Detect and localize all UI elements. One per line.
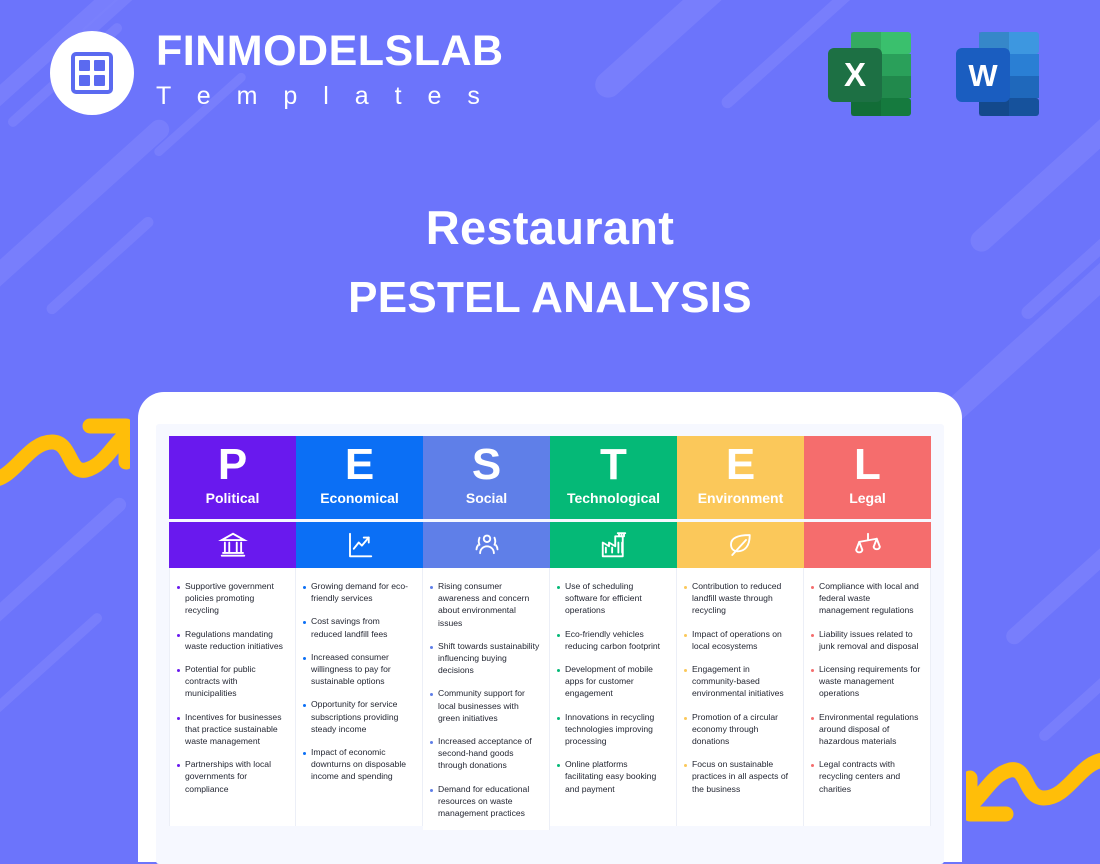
list-item: Opportunity for service subscriptions pr… [303, 698, 413, 735]
list-item: Partnerships with local governments for … [177, 758, 286, 795]
column-icon-cell-technological [550, 522, 677, 568]
bullet-text: Regulations mandating waste reduction in… [185, 628, 286, 652]
bullet-text: Contribution to reduced landfill waste t… [692, 580, 794, 617]
column-icon-cell-legal [804, 522, 931, 568]
list-item: Compliance with local and federal waste … [811, 580, 921, 617]
list-item: Licensing requirements for waste managem… [811, 663, 921, 700]
list-item: Incentives for businesses that practice … [177, 711, 286, 748]
list-item: Impact of economic downturns on disposab… [303, 746, 413, 783]
logo-badge [50, 31, 134, 115]
column-header-social: S Social [423, 436, 550, 519]
bullet-text: Partnerships with local governments for … [185, 758, 286, 795]
word-icon[interactable]: W [948, 24, 1048, 124]
list-item: Legal contracts with recycling centers a… [811, 758, 921, 795]
list-item: Contribution to reduced landfill waste t… [684, 580, 794, 617]
column-body-political: Supportive government policies promoting… [169, 568, 296, 826]
excel-icon[interactable]: X [820, 24, 920, 124]
bullet-text: Potential for public contracts with muni… [185, 663, 286, 700]
excel-letter: X [844, 56, 866, 93]
bullet-list-social: Rising consumer awareness and concern ab… [430, 580, 540, 819]
bullet-text: Rising consumer awareness and concern ab… [438, 580, 540, 629]
tablet-device-frame: P Political Supportive government polici… [138, 392, 962, 862]
brand-logo[interactable]: FINMODELSLAB T e m p l a t e s [50, 30, 504, 116]
list-item: Online platforms facilitating easy booki… [557, 758, 667, 795]
pestel-column-environment[interactable]: E Environment Contribution to reduced la… [677, 436, 804, 830]
list-item: Innovations in recycling technologies im… [557, 711, 667, 748]
pestel-column-technological[interactable]: T Technological Use of scheduling softwa… [550, 436, 677, 830]
column-body-social: Rising consumer awareness and concern ab… [423, 568, 550, 830]
page-subtitle: PESTEL ANALYSIS [0, 273, 1100, 323]
arrow-up-right-icon [0, 398, 130, 490]
column-label: Political [206, 490, 260, 506]
bullet-text: Eco-friendly vehicles reducing carbon fo… [565, 628, 667, 652]
list-item: Supportive government policies promoting… [177, 580, 286, 617]
column-body-economical: Growing demand for eco-friendly services… [296, 568, 423, 826]
list-item: Cost savings from reduced landfill fees [303, 615, 413, 639]
list-item: Development of mobile apps for customer … [557, 663, 667, 700]
column-icon-cell-environment [677, 522, 804, 568]
bullet-text: Impact of economic downturns on disposab… [311, 746, 413, 783]
bullet-text: Innovations in recycling technologies im… [565, 711, 667, 748]
page-title-block: Restaurant PESTEL ANALYSIS [0, 200, 1100, 323]
list-item: Engagement in community-based environmen… [684, 663, 794, 700]
bullet-list-economical: Growing demand for eco-friendly services… [303, 580, 413, 783]
bullet-text: Compliance with local and federal waste … [819, 580, 921, 617]
grid-squares-icon [71, 52, 113, 94]
arrow-down-left-icon [966, 752, 1100, 844]
list-item: Increased acceptance of second-hand good… [430, 735, 540, 772]
leaf-icon [726, 530, 756, 560]
bullet-text: Opportunity for service subscriptions pr… [311, 698, 413, 735]
bullet-text: Engagement in community-based environmen… [692, 663, 794, 700]
bullet-text: Increased consumer willingness to pay fo… [311, 651, 413, 688]
list-item: Potential for public contracts with muni… [177, 663, 286, 700]
bullet-list-legal: Compliance with local and federal waste … [811, 580, 921, 795]
column-letter: T [600, 443, 627, 488]
bullet-text: Increased acceptance of second-hand good… [438, 735, 540, 772]
bullet-text: Licensing requirements for waste managem… [819, 663, 921, 700]
list-item: Environmental regulations around disposa… [811, 711, 921, 748]
column-header-political: P Political [169, 436, 296, 519]
scales-of-justice-icon [853, 530, 883, 560]
list-item: Liability issues related to junk removal… [811, 628, 921, 652]
app-format-icons: X W [820, 24, 1048, 124]
bullet-text: Use of scheduling software for efficient… [565, 580, 667, 617]
column-body-technological: Use of scheduling software for efficient… [550, 568, 677, 826]
bullet-text: Liability issues related to junk removal… [819, 628, 921, 652]
bullet-text: Legal contracts with recycling centers a… [819, 758, 921, 795]
list-item: Increased consumer willingness to pay fo… [303, 651, 413, 688]
page-title: Restaurant [0, 200, 1100, 255]
column-letter: L [854, 443, 881, 488]
column-label: Environment [698, 490, 784, 506]
pestel-column-legal[interactable]: L Legal Compliance with local and federa… [804, 436, 931, 830]
bullet-text: Promotion of a circular economy through … [692, 711, 794, 748]
list-item: Use of scheduling software for efficient… [557, 580, 667, 617]
column-letter: S [472, 443, 501, 488]
bullet-text: Demand for educational resources on wast… [438, 783, 540, 820]
column-letter: E [345, 443, 374, 488]
column-letter: E [726, 443, 755, 488]
column-icon-cell-social [423, 522, 550, 568]
list-item: Focus on sustainable practices in all as… [684, 758, 794, 795]
bullet-list-environment: Contribution to reduced landfill waste t… [684, 580, 794, 795]
list-item: Demand for educational resources on wast… [430, 783, 540, 820]
column-header-environment: E Environment [677, 436, 804, 519]
header-bar: FINMODELSLAB T e m p l a t e s X [0, 0, 1100, 150]
list-item: Eco-friendly vehicles reducing carbon fo… [557, 628, 667, 652]
list-item: Regulations mandating waste reduction in… [177, 628, 286, 652]
bullet-text: Supportive government policies promoting… [185, 580, 286, 617]
tablet-screen: P Political Supportive government polici… [156, 424, 944, 864]
column-header-economical: E Economical [296, 436, 423, 519]
bullet-text: Impact of operations on local ecosystems [692, 628, 794, 652]
bullet-text: Community support for local businesses w… [438, 687, 540, 724]
column-body-legal: Compliance with local and federal waste … [804, 568, 931, 826]
bullet-list-political: Supportive government policies promoting… [177, 580, 286, 795]
column-label: Social [466, 490, 507, 506]
list-item: Promotion of a circular economy through … [684, 711, 794, 748]
bullet-text: Development of mobile apps for customer … [565, 663, 667, 700]
brand-name: FINMODELSLAB [156, 30, 504, 73]
column-header-legal: L Legal [804, 436, 931, 519]
list-item: Growing demand for eco-friendly services [303, 580, 413, 604]
column-letter: P [218, 443, 247, 488]
bullet-text: Incentives for businesses that practice … [185, 711, 286, 748]
column-icon-cell-economical [296, 522, 423, 568]
bullet-text: Environmental regulations around disposa… [819, 711, 921, 748]
bullet-text: Focus on sustainable practices in all as… [692, 758, 794, 795]
word-letter: W [968, 58, 998, 93]
column-body-environment: Contribution to reduced landfill waste t… [677, 568, 804, 826]
bank-building-icon [218, 530, 248, 560]
bullet-text: Shift towards sustainability influencing… [438, 640, 540, 677]
list-item: Community support for local businesses w… [430, 687, 540, 724]
column-label: Technological [567, 490, 660, 506]
pestel-column-social[interactable]: S Social Rising consumer awareness and c… [423, 436, 550, 830]
pestel-column-economical[interactable]: E Economical Growing demand for eco-frie… [296, 436, 423, 830]
column-label: Legal [849, 490, 886, 506]
column-icon-cell-political [169, 522, 296, 568]
list-item: Shift towards sustainability influencing… [430, 640, 540, 677]
list-item: Rising consumer awareness and concern ab… [430, 580, 540, 629]
column-header-technological: T Technological [550, 436, 677, 519]
brand-subtitle: T e m p l a t e s [156, 78, 504, 116]
bullet-text: Cost savings from reduced landfill fees [311, 615, 413, 639]
line-chart-icon [345, 530, 375, 560]
list-item: Impact of operations on local ecosystems [684, 628, 794, 652]
people-group-icon [472, 530, 502, 560]
pestel-table: P Political Supportive government polici… [169, 436, 931, 830]
pestel-column-political[interactable]: P Political Supportive government polici… [169, 436, 296, 830]
bullet-list-technological: Use of scheduling software for efficient… [557, 580, 667, 795]
column-label: Economical [320, 490, 399, 506]
factory-icon [599, 530, 629, 560]
bullet-text: Growing demand for eco-friendly services [311, 580, 413, 604]
bullet-text: Online platforms facilitating easy booki… [565, 758, 667, 795]
